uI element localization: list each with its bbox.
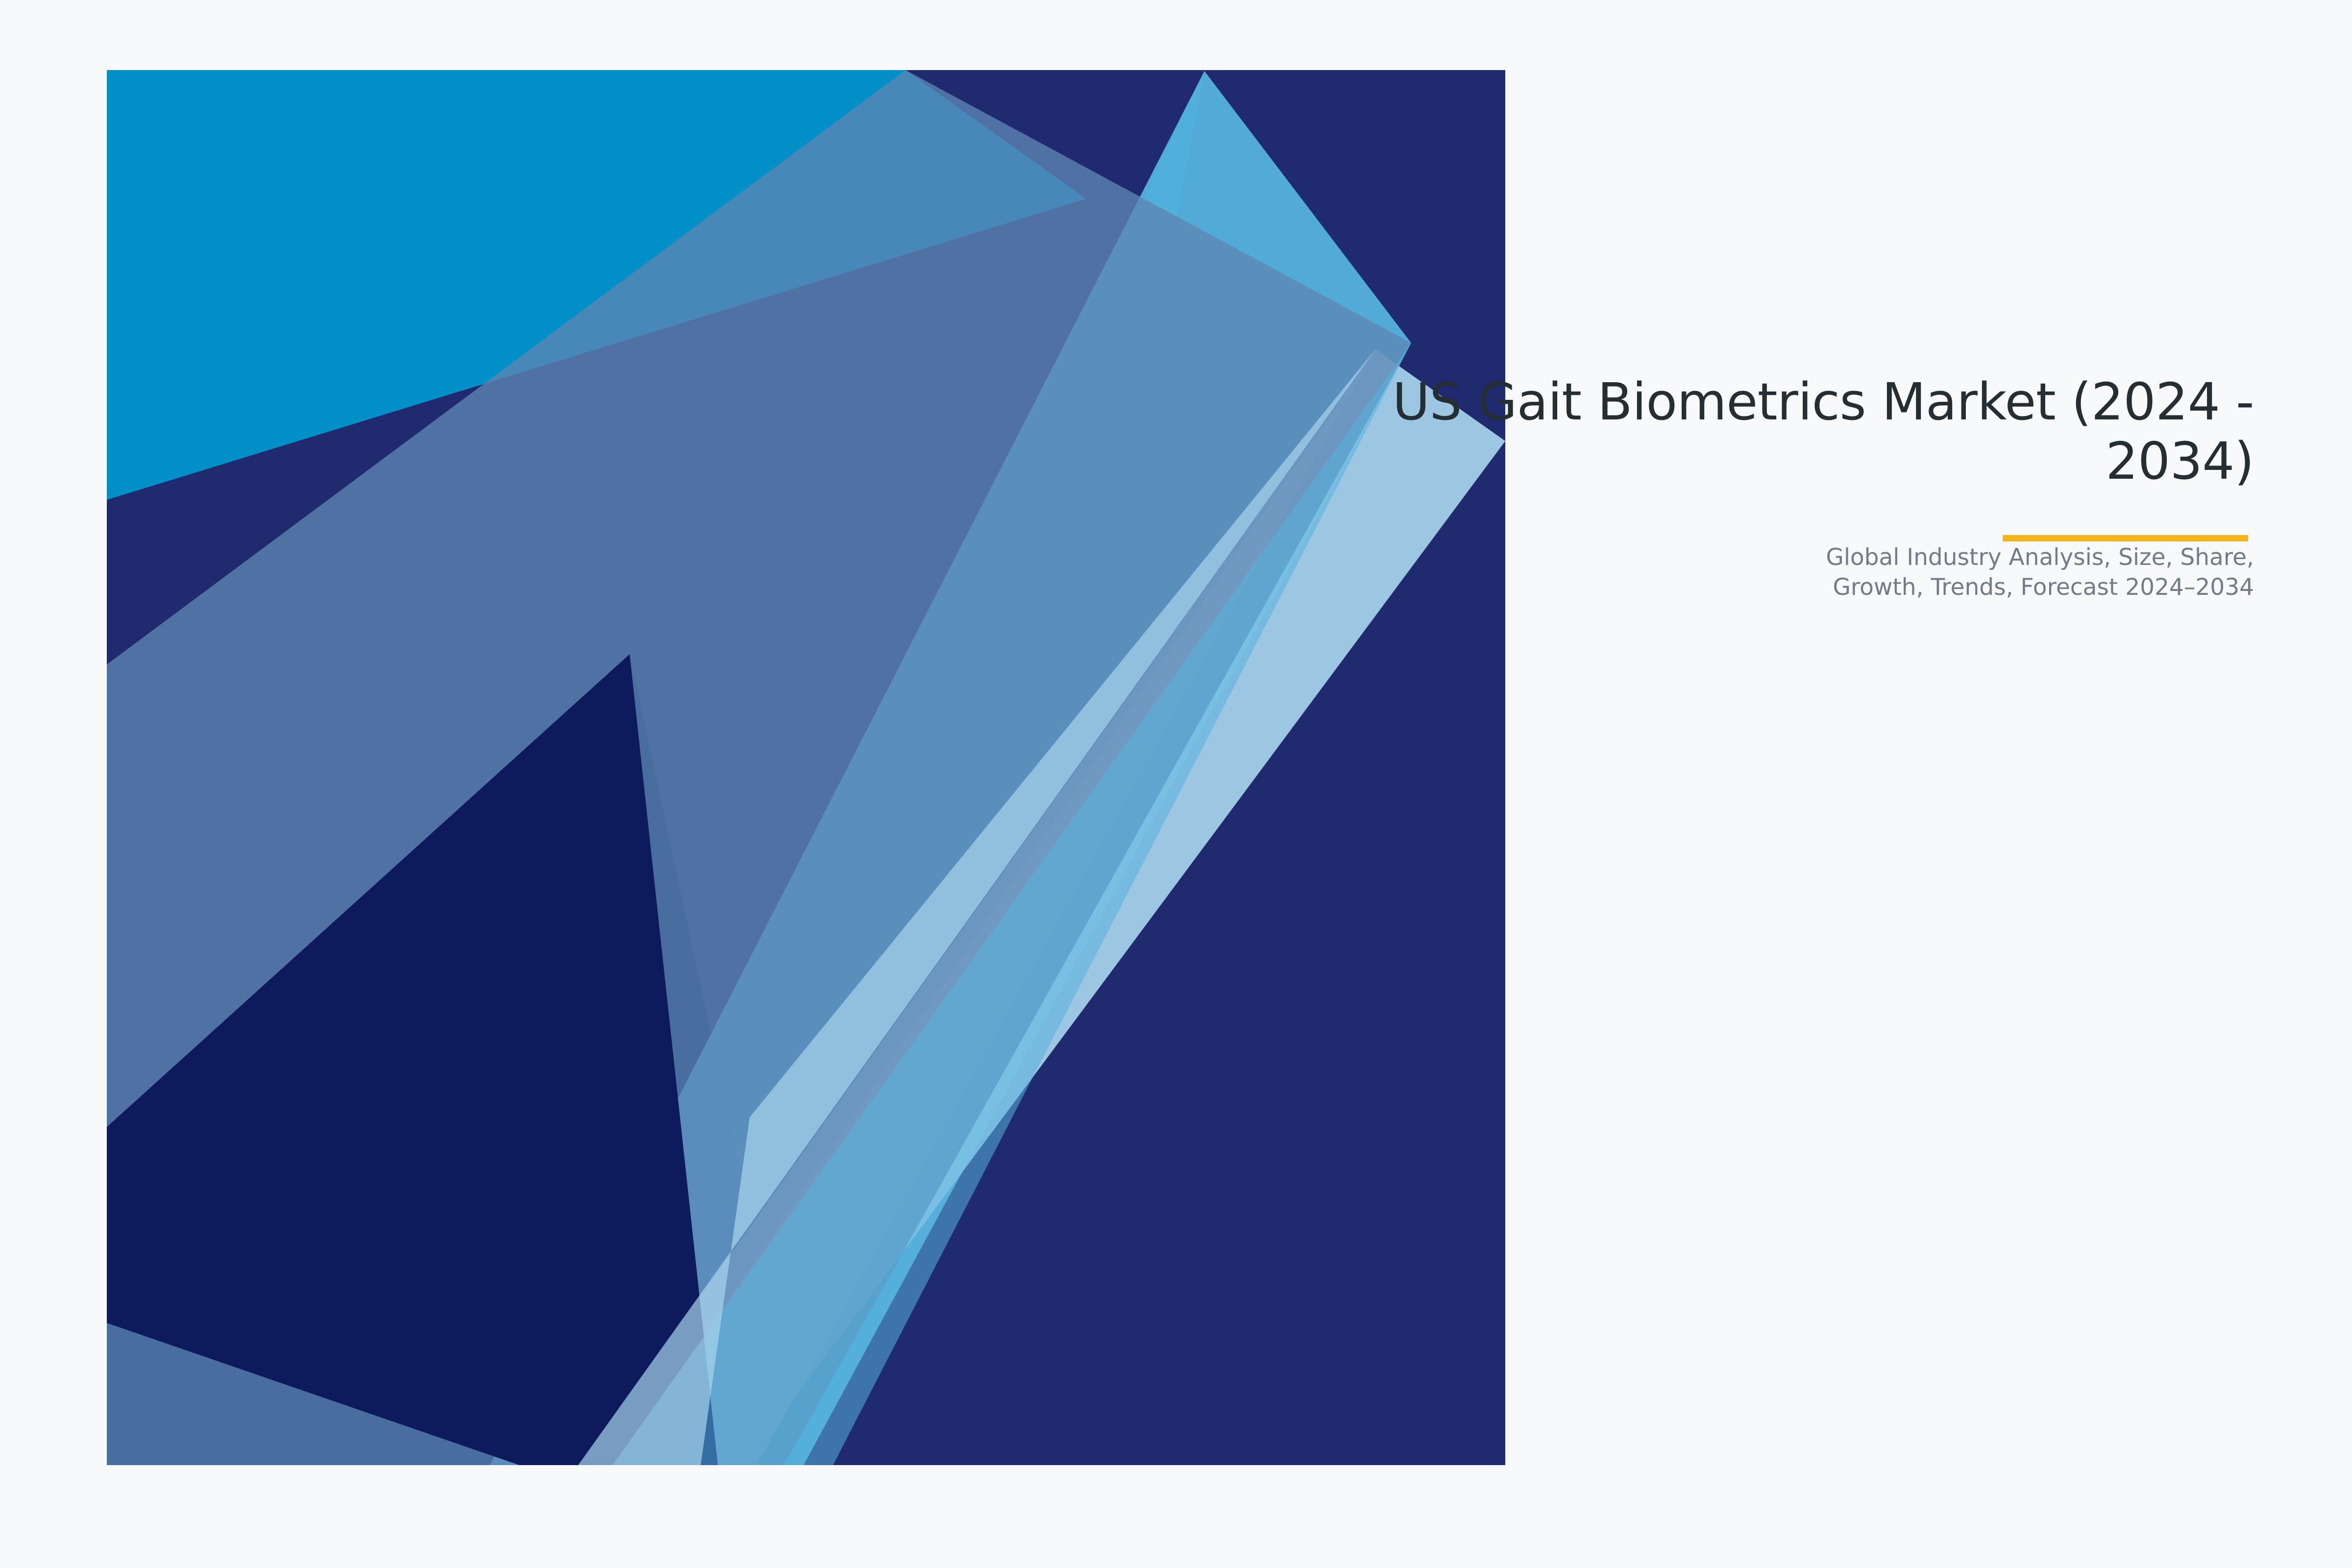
page-title: US Gait Biometrics Market (2024 - 2034) bbox=[931, 372, 2254, 490]
decorative-artwork bbox=[0, 0, 2352, 1568]
title-wrap: US Gait Biometrics Market (2024 - 2034) bbox=[931, 372, 2254, 490]
title-accent-underline bbox=[2003, 535, 2248, 541]
slide-canvas: US Gait Biometrics Market (2024 - 2034) … bbox=[0, 0, 2352, 1568]
title-block: US Gait Biometrics Market (2024 - 2034) … bbox=[931, 372, 2254, 602]
page-subtitle: Global Industry Analysis, Size, Share, G… bbox=[931, 542, 2254, 602]
